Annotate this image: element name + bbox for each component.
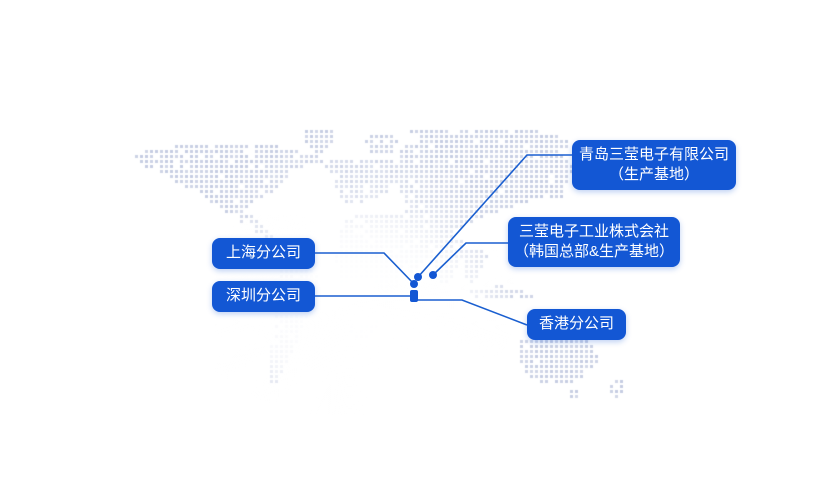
label-shanghai-line1: 上海分公司 <box>226 243 301 263</box>
marker-dot-korea <box>429 271 437 279</box>
label-qingdao[interactable]: 青岛三莹电子有限公司 （生产基地） <box>572 140 736 190</box>
marker-dot-qingdao <box>414 273 422 281</box>
connector-lines <box>0 0 824 480</box>
label-korea-line2: （韩国总部&生产基地） <box>514 242 674 262</box>
label-qingdao-line1: 青岛三莹电子有限公司 <box>579 145 729 165</box>
label-korea-line1: 三莹电子工业株式会社 <box>519 222 669 242</box>
connector-hongkong <box>414 300 527 325</box>
label-shenzhen[interactable]: 深圳分公司 <box>212 281 315 312</box>
label-hongkong[interactable]: 香港分公司 <box>527 309 626 340</box>
connector-shanghai <box>315 253 414 284</box>
label-qingdao-line2: （生产基地） <box>609 165 699 185</box>
marker-dot-shenzhen <box>410 290 418 302</box>
label-shanghai[interactable]: 上海分公司 <box>212 238 315 269</box>
label-shenzhen-line1: 深圳分公司 <box>226 286 301 306</box>
marker-dot-shanghai <box>410 280 418 288</box>
label-korea-hq[interactable]: 三莹电子工业株式会社 （韩国总部&生产基地） <box>508 217 680 267</box>
label-hongkong-line1: 香港分公司 <box>539 314 614 334</box>
world-map-infographic: 青岛三莹电子有限公司 （生产基地） 三莹电子工业株式会社 （韩国总部&生产基地）… <box>0 0 824 480</box>
